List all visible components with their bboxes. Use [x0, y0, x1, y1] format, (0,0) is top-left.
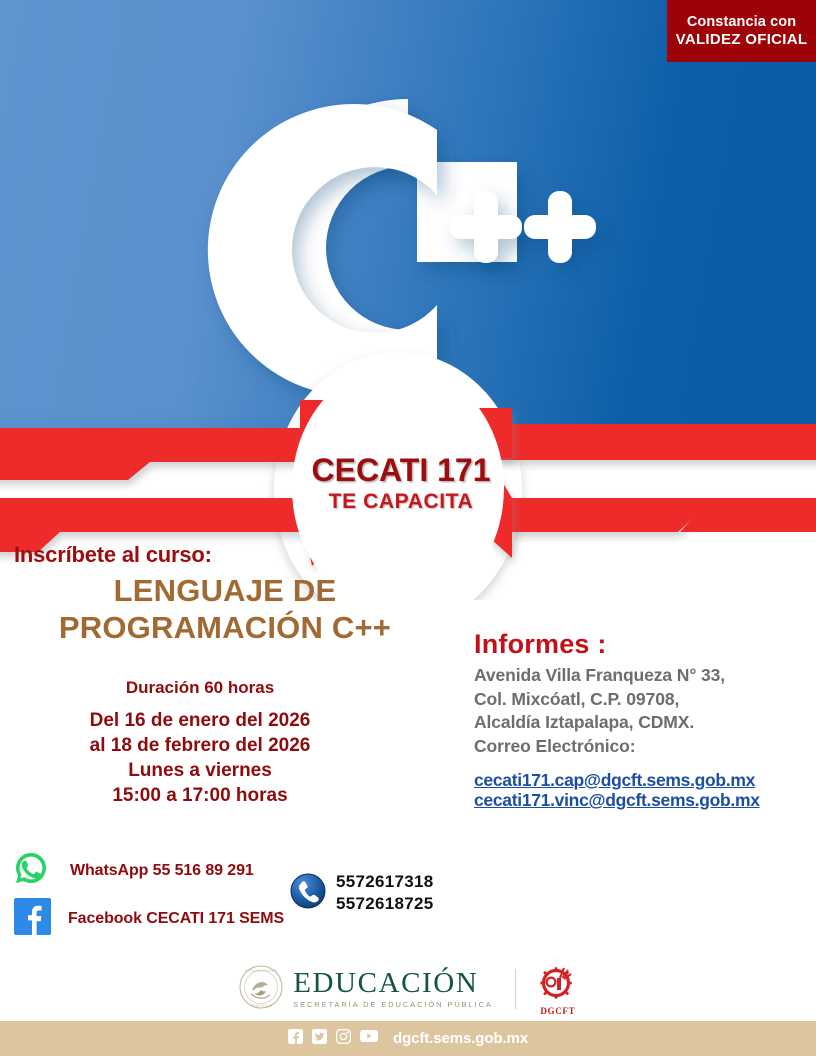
email-link-cap[interactable]: cecati171.cap@dgcft.sems.gob.mx [474, 770, 816, 790]
course-days: Lunes a viernes [0, 758, 400, 783]
course-kicker: Inscríbete al curso: [14, 542, 212, 568]
course-title-line-1: LENGUAJE DE [0, 572, 450, 609]
mexico-coat-of-arms-icon: ESTADOS UNIDOS MEXICANOS [238, 964, 284, 1015]
dgcft-logo: DGCFT [538, 962, 578, 1016]
youtube-footer-icon[interactable] [360, 1029, 378, 1048]
email-label: Correo Electrónico: [474, 735, 816, 759]
educacion-subtitle: SECRETARÍA DE EDUCACIÓN PÚBLICA [293, 999, 493, 1010]
phone-numbers: 5572617318 5572618725 [336, 871, 434, 915]
course-hours: 15:00 a 17:00 horas [0, 783, 400, 808]
dgcft-gear-icon [538, 962, 578, 1005]
phone-number-1: 5572617318 [336, 871, 434, 893]
informes-address: Avenida Villa Franqueza N° 33, Col. Mixc… [474, 664, 816, 758]
course-date-to: al 18 de febrero del 2026 [0, 733, 400, 758]
address-line-1: Avenida Villa Franqueza N° 33, [474, 664, 816, 688]
facebook-footer-icon[interactable] [288, 1029, 303, 1049]
poster-canvas: CECATI 171 TE CAPACITA Constancia con VA… [0, 0, 816, 1056]
instagram-footer-icon[interactable] [336, 1029, 351, 1049]
educacion-word: EDUCACIÓN [293, 968, 493, 998]
page-title: LENGUAJE DE PROGRAMACIÓN C++ [0, 572, 450, 646]
whatsapp-icon [14, 851, 48, 890]
footer-bar: dgcft.sems.gob.mx [0, 1021, 816, 1056]
cecati-subtitle: TE CAPACITA [278, 489, 524, 515]
whatsapp-label: WhatsApp 55 516 89 291 [70, 862, 254, 880]
badge-line-1: Constancia con [687, 14, 796, 31]
email-link-vinc[interactable]: cecati171.vinc@dgcft.sems.gob.mx [474, 790, 816, 810]
svg-text:ESTADOS UNIDOS: ESTADOS UNIDOS [245, 968, 277, 972]
facebook-contact[interactable]: Facebook CECATI 171 SEMS [14, 898, 284, 940]
whatsapp-contact[interactable]: WhatsApp 55 516 89 291 [14, 851, 254, 890]
phone-contact: 5572617318 5572618725 [290, 871, 434, 915]
educacion-logo: ESTADOS UNIDOS MEXICANOS EDUCACIÓN SECRE… [238, 964, 493, 1015]
website-url[interactable]: dgcft.sems.gob.mx [393, 1030, 528, 1047]
cecati-emblem-text: CECATI 171 TE CAPACITA [278, 452, 524, 515]
footer-logos: ESTADOS UNIDOS MEXICANOS EDUCACIÓN SECRE… [0, 958, 816, 1020]
svg-text:MEXICANOS: MEXICANOS [250, 1003, 272, 1007]
twitter-footer-icon[interactable] [312, 1029, 327, 1049]
dgcft-word: DGCFT [540, 1006, 575, 1016]
address-line-3: Alcaldía Iztapalapa, CDMX. [474, 711, 816, 735]
facebook-icon [14, 898, 51, 940]
course-duration: Duración 60 horas [0, 678, 400, 698]
course-schedule: Del 16 de enero del 2026 al 18 de febrer… [0, 708, 400, 808]
phone-icon [290, 873, 326, 914]
course-date-from: Del 16 de enero del 2026 [0, 708, 400, 733]
email-links[interactable]: cecati171.cap@dgcft.sems.gob.mx cecati17… [474, 770, 816, 810]
footer-divider [515, 969, 516, 1009]
address-line-2: Col. Mixcóatl, C.P. 09708, [474, 688, 816, 712]
phone-number-2: 5572618725 [336, 893, 434, 915]
informes-heading: Informes : [474, 629, 607, 660]
course-title-line-2: PROGRAMACIÓN C++ [0, 609, 450, 646]
facebook-label: Facebook CECATI 171 SEMS [68, 910, 284, 928]
badge-line-2: VALIDEZ OFICIAL [676, 31, 808, 49]
educacion-wordmark: EDUCACIÓN SECRETARÍA DE EDUCACIÓN PÚBLIC… [293, 968, 493, 1010]
status-badge: Constancia con VALIDEZ OFICIAL [667, 0, 816, 62]
cecati-title: CECATI 171 [278, 452, 524, 488]
